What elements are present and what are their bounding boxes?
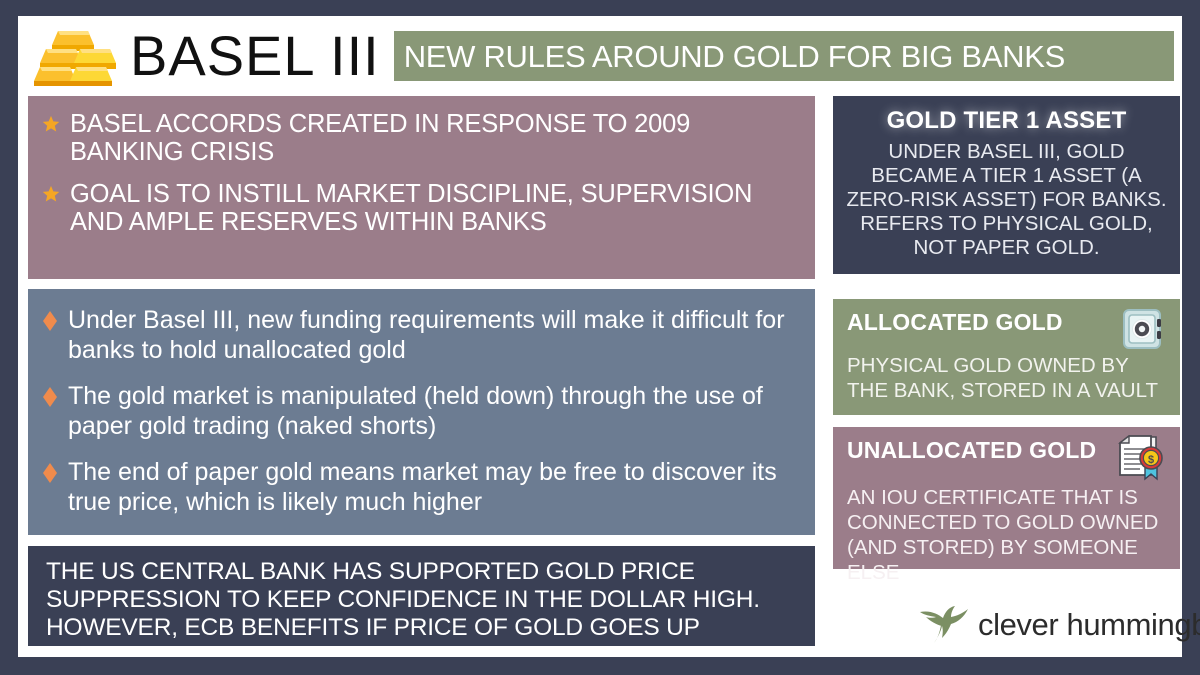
- list-item-text: Goal is to instill market discipline, su…: [70, 180, 799, 236]
- infographic-frame: BASEL III NEW RULES AROUND GOLD FOR BIG …: [0, 0, 1200, 675]
- gold-tier1-panel: GOLD TIER 1 ASSET Under Basel III, gold …: [833, 96, 1180, 274]
- gold-tier1-title: GOLD TIER 1 ASSET: [845, 106, 1168, 136]
- diamond-bullet-icon: [42, 386, 58, 408]
- gold-bars-icon: [32, 25, 124, 87]
- vault-safe-icon: [1122, 307, 1166, 351]
- star-bullet-icon: [42, 185, 60, 203]
- list-item-text: The gold market is manipulated (held dow…: [68, 381, 799, 441]
- funding-list: Under Basel III, new funding requirement…: [42, 305, 799, 517]
- unallocated-gold-body: An IOU certificate that is connected to …: [847, 485, 1166, 585]
- list-item: The end of paper gold means market may b…: [42, 457, 799, 517]
- header: BASEL III NEW RULES AROUND GOLD FOR BIG …: [28, 20, 1174, 92]
- infographic-canvas: BASEL III NEW RULES AROUND GOLD FOR BIG …: [18, 16, 1182, 657]
- page-title: BASEL III: [130, 28, 380, 84]
- allocated-gold-body: Physical gold owned by the bank, stored …: [847, 353, 1166, 403]
- list-item: Under Basel III, new funding requirement…: [42, 305, 799, 365]
- star-bullet-icon: [42, 115, 60, 133]
- list-item-text: Basel accords created in response to 200…: [70, 110, 799, 166]
- diamond-bullet-icon: [42, 462, 58, 484]
- gold-tier1-body: Under Basel III, gold became a Tier 1 as…: [845, 140, 1168, 260]
- list-item-text: Under Basel III, new funding requirement…: [68, 305, 799, 365]
- funding-requirements-panel: Under Basel III, new funding requirement…: [28, 289, 815, 535]
- unallocated-gold-title: UNALLOCATED GOLD: [847, 437, 1096, 463]
- svg-text:$: $: [1148, 454, 1154, 466]
- list-item: Basel accords created in response to 200…: [42, 110, 799, 166]
- list-item: Goal is to instill market discipline, su…: [42, 180, 799, 236]
- allocated-gold-title: ALLOCATED GOLD: [847, 309, 1063, 335]
- accords-list: Basel accords created in response to 200…: [42, 110, 799, 236]
- diamond-bullet-icon: [42, 310, 58, 332]
- allocated-gold-header: ALLOCATED GOLD: [847, 309, 1166, 351]
- brand-logo: clever hummingbird: [918, 604, 1200, 644]
- central-bank-panel: The US central bank has supported gold p…: [28, 546, 815, 646]
- header-banner: NEW RULES AROUND GOLD FOR BIG BANKS: [394, 31, 1174, 81]
- unallocated-gold-header: UNALLOCATED GOLD: [847, 437, 1166, 483]
- list-item-text: The end of paper gold means market may b…: [68, 457, 799, 517]
- list-item: The gold market is manipulated (held dow…: [42, 381, 799, 441]
- unallocated-gold-panel: UNALLOCATED GOLD: [833, 427, 1180, 569]
- header-banner-text: NEW RULES AROUND GOLD FOR BIG BANKS: [404, 41, 1065, 72]
- certificate-seal-icon: $: [1116, 435, 1166, 483]
- hummingbird-icon: [918, 604, 970, 644]
- central-bank-text: The US central bank has supported gold p…: [46, 558, 799, 642]
- basel-accords-panel: Basel accords created in response to 200…: [28, 96, 815, 279]
- brand-logo-text: clever hummingbird: [978, 609, 1200, 640]
- allocated-gold-panel: ALLOCATED GOLD Physical gold owned by th…: [833, 299, 1180, 415]
